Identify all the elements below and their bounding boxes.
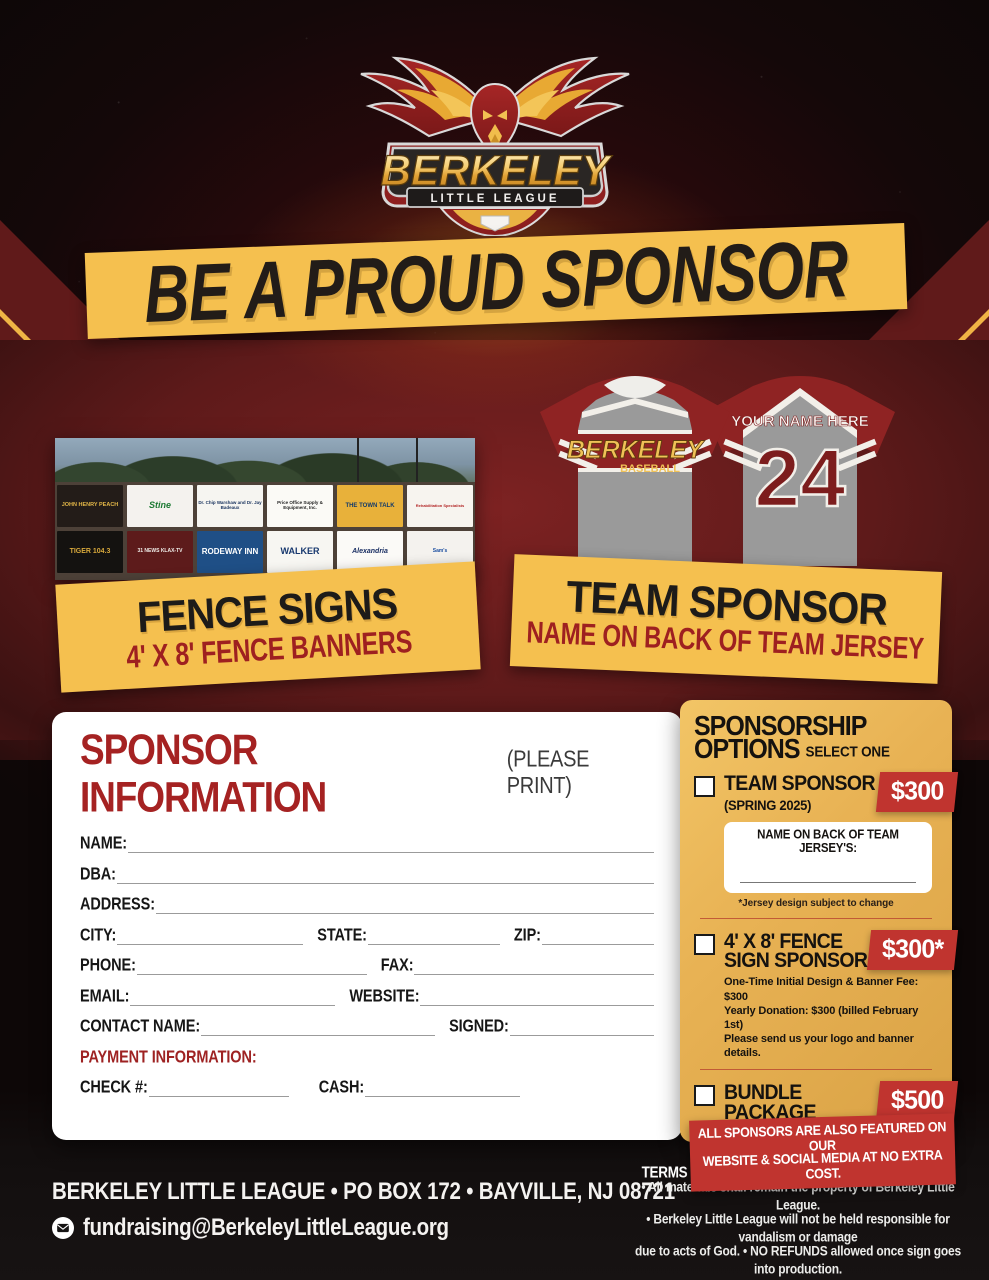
jersey-name-input[interactable] (740, 863, 916, 883)
fence-banner: Price Office Supply & Equipment, Inc. (267, 485, 333, 527)
sponsor-information-form: SPONSOR INFORMATION (PLEASE PRINT) NAME:… (52, 712, 682, 1140)
email-input[interactable] (130, 992, 335, 1006)
option-team-sponsor[interactable]: $300 TEAM SPONSOR (SPRING 2025) NAME ON … (694, 774, 938, 920)
options-heading-line2: OPTIONS (694, 737, 800, 763)
payment-information-heading: PAYMENT INFORMATION: (80, 1048, 654, 1067)
all-sponsors-line2: WEBSITE & SOCIAL MEDIA AT NO EXTRA COST. (698, 1147, 948, 1185)
check-input[interactable] (149, 1083, 289, 1097)
dba-label: DBA: (80, 865, 117, 884)
fence-banner: RODEWAY INN (197, 531, 263, 573)
phone-label: PHONE: (80, 956, 137, 975)
option-fence-sign-sponsor[interactable]: $300* 4' X 8' FENCE SIGN SPONSOR One-Tim… (694, 932, 938, 1070)
footer-address: BERKELEY LITTLE LEAGUE • PO BOX 172 • BA… (52, 1178, 675, 1206)
sponsorship-options-panel: SPONSORSHIP OPTIONS SELECT ONE $300 TEAM… (680, 700, 952, 1142)
fence-signs-photo: JOHN HENRY PEACH Stine Dr. Chip Warshaw … (55, 438, 475, 580)
fence-banner: TIGER 104.3 (57, 531, 123, 573)
team-sponsor-checkbox[interactable] (694, 776, 715, 797)
headline-banner: BE A PROUD SPONSOR (85, 223, 908, 339)
all-sponsors-featured-banner: ALL SPONSORS ARE ALSO FEATURED ON OUR WE… (689, 1113, 956, 1191)
name-label: NAME: (80, 834, 128, 853)
fence-banner: Dr. Chip Warshaw and Dr. Jay Badeaux (197, 485, 263, 527)
fence-banner: THE TOWN TALK (337, 485, 403, 527)
city-input[interactable] (117, 931, 303, 945)
fence-sign-detail-line1: One-Time Initial Design & Banner Fee: $3… (724, 975, 938, 1003)
jersey-front-sport: BASEBALL (620, 463, 680, 475)
option-divider (700, 918, 932, 920)
fence-banner: WALKER (267, 531, 333, 573)
footer-email[interactable]: fundraising@BerkeleyLittleLeague.org (83, 1214, 449, 1242)
jersey-front: BERKELEY BASEBALL (530, 368, 740, 573)
footer-email-row[interactable]: fundraising@BerkeleyLittleLeague.org (52, 1216, 675, 1240)
fax-input[interactable] (414, 961, 654, 975)
fence-banner-row: JOHN HENRY PEACH Stine Dr. Chip Warshaw … (55, 485, 475, 531)
bundle-checkbox[interactable] (694, 1085, 715, 1106)
state-label: STATE: (317, 926, 368, 945)
jersey-name-box: NAME ON BACK OF TEAM JERSEY'S: (724, 822, 932, 893)
form-row-dba: DBA: (80, 868, 654, 884)
berkeley-little-league-logo: BERKELEY LITTLE LEAGUE (345, 36, 645, 236)
check-label: CHECK #: (80, 1078, 149, 1097)
form-header: SPONSOR INFORMATION (PLEASE PRINT) (80, 738, 654, 822)
logo-wordmark: BERKELEY (380, 147, 612, 194)
state-input[interactable] (368, 931, 500, 945)
fence-banner: Rehabilitation Specialists (407, 485, 473, 527)
name-input[interactable] (128, 839, 654, 853)
email-label: EMAIL: (80, 987, 130, 1006)
fence-sign-name-line2: SIGN SPONSOR (724, 951, 867, 972)
jersey-design-disclaimer: *Jersey design subject to change (694, 898, 938, 909)
team-sponsor-price-tag: $300 (875, 772, 958, 812)
team-sponsor-season-note: (SPRING 2025) (724, 797, 875, 813)
jersey-front-team: BERKELEY (567, 436, 705, 464)
terms-line-3: due to acts of God. • NO REFUNDS allowed… (623, 1242, 973, 1278)
website-input[interactable] (420, 992, 654, 1006)
signed-input[interactable] (510, 1022, 654, 1036)
website-label: WEBSITE: (349, 987, 420, 1006)
city-label: CITY: (80, 926, 117, 945)
form-row-address: ADDRESS: (80, 898, 654, 914)
dba-input[interactable] (117, 870, 654, 884)
contact-name-input[interactable] (201, 1022, 435, 1036)
jersey-back-number: 24 (754, 433, 846, 524)
team-jersey-graphics: YOUR NAME HERE 24 BERKELEY BASEBALL (520, 358, 920, 588)
contact-name-label: CONTACT NAME: (80, 1017, 201, 1036)
form-row-email-website: EMAIL: WEBSITE: (80, 990, 654, 1006)
option-divider (700, 1069, 932, 1071)
fence-banner: 31 NEWS KLAX-TV (127, 531, 193, 573)
form-print-note: (PLEASE PRINT) (507, 747, 654, 800)
fax-label: FAX: (381, 956, 415, 975)
address-input[interactable] (156, 900, 654, 914)
fence-sign-checkbox[interactable] (694, 934, 715, 955)
form-row-city-state-zip: CITY: STATE: ZIP: (80, 929, 654, 945)
signed-label: SIGNED: (449, 1017, 510, 1036)
address-label: ADDRESS: (80, 895, 156, 914)
logo-subtitle: LITTLE LEAGUE (430, 193, 559, 205)
fence-banner: Stine (127, 485, 193, 527)
footer-contact: BERKELEY LITTLE LEAGUE • PO BOX 172 • BA… (52, 1178, 675, 1240)
form-title: SPONSOR INFORMATION (80, 726, 498, 822)
form-row-check-cash: CHECK #: CASH: (80, 1081, 654, 1097)
jersey-back-name: YOUR NAME HERE (731, 413, 869, 430)
team-sponsor-name: TEAM SPONSOR (724, 774, 875, 795)
options-select-one: SELECT ONE (806, 742, 890, 761)
sponsorship-flyer: BERKELEY LITTLE LEAGUE BE A PROUD SPONSO… (0, 0, 989, 1280)
cash-input[interactable] (365, 1083, 520, 1097)
cash-label: CASH: (319, 1078, 365, 1097)
form-row-name: NAME: (80, 837, 654, 853)
envelope-icon (52, 1217, 74, 1239)
phone-input[interactable] (137, 961, 367, 975)
terms-line-2: • Berkeley Little League will not be hel… (623, 1210, 973, 1246)
zip-label: ZIP: (514, 926, 542, 945)
team-sponsor-banner: TEAM SPONSOR NAME ON BACK OF TEAM JERSEY (510, 554, 942, 684)
zip-input[interactable] (542, 931, 654, 945)
fence-sign-price-tag: $300* (867, 930, 959, 970)
fence-sign-detail-line2: Yearly Donation: $300 (billed February 1… (724, 1004, 938, 1032)
jersey-name-label: NAME ON BACK OF TEAM JERSEY'S: (734, 828, 922, 855)
eagle-crest-icon: BERKELEY LITTLE LEAGUE (345, 36, 645, 236)
fence-banner: JOHN HENRY PEACH (57, 485, 123, 527)
form-row-phone-fax: PHONE: FAX: (80, 959, 654, 975)
form-row-contact-signed: CONTACT NAME: SIGNED: (80, 1020, 654, 1036)
fence-sign-detail-line3: Please send us your logo and banner deta… (724, 1032, 938, 1060)
